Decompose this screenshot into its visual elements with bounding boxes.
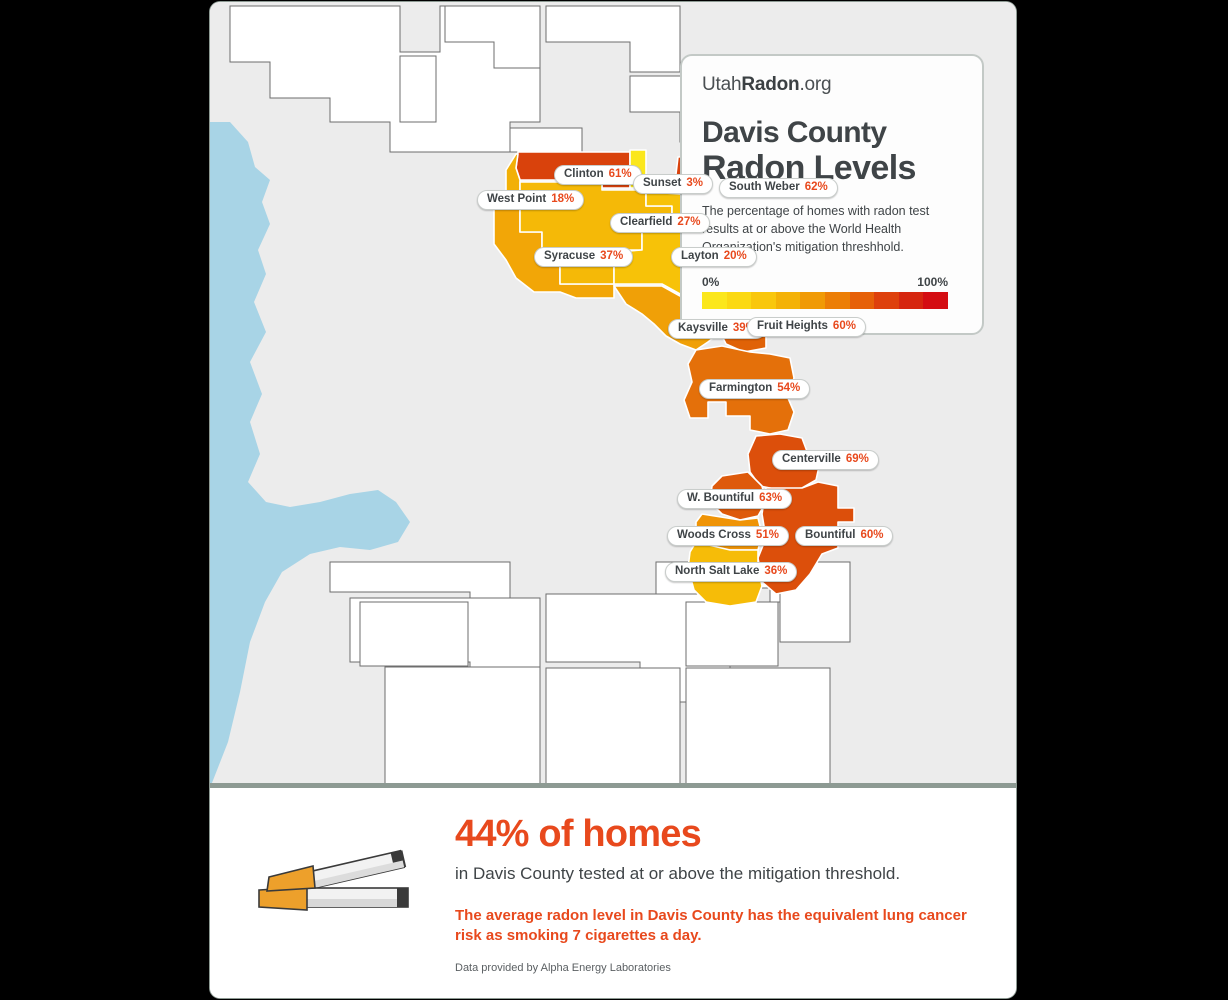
city-percent: 36% bbox=[764, 565, 787, 578]
scale-swatch-2 bbox=[751, 292, 776, 309]
scale-swatch-0 bbox=[702, 292, 727, 309]
scale-swatch-9 bbox=[923, 292, 948, 309]
city-label-west-point[interactable]: West Point18% bbox=[477, 190, 584, 210]
city-name: South Weber bbox=[729, 181, 800, 194]
scale-labels: 0% 100% bbox=[702, 275, 948, 289]
scale-swatch-1 bbox=[727, 292, 752, 309]
city-label-clearfield[interactable]: Clearfield27% bbox=[610, 213, 710, 233]
city-label-layton[interactable]: Layton20% bbox=[671, 247, 757, 267]
city-percent: 20% bbox=[724, 250, 747, 263]
risk-statement: The average radon level in Davis County … bbox=[455, 906, 995, 946]
city-percent: 18% bbox=[551, 193, 574, 206]
city-name: Clearfield bbox=[620, 216, 672, 229]
city-name: North Salt Lake bbox=[675, 565, 759, 578]
city-name: West Point bbox=[487, 193, 546, 206]
city-percent: 60% bbox=[860, 529, 883, 542]
logo-pre: Utah bbox=[702, 74, 741, 95]
city-name: Clinton bbox=[564, 168, 604, 181]
city-label-sunset[interactable]: Sunset3% bbox=[633, 174, 713, 194]
city-name: Woods Cross bbox=[677, 529, 751, 542]
city-percent: 60% bbox=[833, 320, 856, 333]
scale-gradient-bar bbox=[702, 292, 948, 309]
city-percent: 63% bbox=[759, 492, 782, 505]
city-label-syracuse[interactable]: Syracuse37% bbox=[534, 247, 633, 267]
city-label-fruit-heights[interactable]: Fruit Heights60% bbox=[747, 317, 866, 337]
city-name: Kaysville bbox=[678, 322, 728, 335]
city-label-bountiful[interactable]: Bountiful60% bbox=[795, 526, 893, 546]
city-percent: 51% bbox=[756, 529, 779, 542]
city-label-north-salt-lake[interactable]: North Salt Lake36% bbox=[665, 562, 797, 582]
scale-min-label: 0% bbox=[702, 275, 719, 289]
city-name: Fruit Heights bbox=[757, 320, 828, 333]
summary-panel: 44% of homes in Davis County tested at o… bbox=[210, 793, 1016, 998]
source-credit: Data provided by Alpha Energy Laboratori… bbox=[455, 962, 995, 974]
city-name: Farmington bbox=[709, 382, 772, 395]
infographic-card: UtahRadon.org Davis County Radon Levels … bbox=[210, 2, 1016, 998]
city-percent: 37% bbox=[600, 250, 623, 263]
city-name: Syracuse bbox=[544, 250, 595, 263]
city-label-w-bountiful[interactable]: W. Bountiful63% bbox=[677, 489, 792, 509]
color-scale: 0% 100% bbox=[702, 275, 948, 309]
logo-bold: Radon bbox=[741, 74, 799, 95]
city-label-farmington[interactable]: Farmington54% bbox=[699, 379, 810, 399]
scale-swatch-3 bbox=[776, 292, 801, 309]
infographic-canvas: UtahRadon.org Davis County Radon Levels … bbox=[0, 0, 1228, 1000]
city-percent: 61% bbox=[609, 168, 632, 181]
city-percent: 54% bbox=[777, 382, 800, 395]
city-percent: 3% bbox=[686, 177, 703, 190]
city-percent: 27% bbox=[677, 216, 700, 229]
site-logo[interactable]: UtahRadon.org bbox=[702, 74, 962, 96]
city-label-south-weber[interactable]: South Weber62% bbox=[719, 178, 838, 198]
city-label-centerville[interactable]: Centerville69% bbox=[772, 450, 879, 470]
summary-text-block: 44% of homes in Davis County tested at o… bbox=[455, 815, 995, 974]
cigarettes-icon bbox=[245, 833, 435, 933]
city-name: Centerville bbox=[782, 453, 841, 466]
city-label-clinton[interactable]: Clinton61% bbox=[554, 165, 642, 185]
city-name: Layton bbox=[681, 250, 719, 263]
scale-swatch-8 bbox=[899, 292, 924, 309]
city-percent: 62% bbox=[805, 181, 828, 194]
big-stat: 44% of homes bbox=[455, 815, 995, 855]
city-label-woods-cross[interactable]: Woods Cross51% bbox=[667, 526, 789, 546]
city-name: Sunset bbox=[643, 177, 681, 190]
logo-post: .org bbox=[799, 74, 831, 95]
title-line-1: Davis County bbox=[702, 118, 962, 149]
scale-swatch-6 bbox=[850, 292, 875, 309]
scale-swatch-5 bbox=[825, 292, 850, 309]
scale-swatch-4 bbox=[800, 292, 825, 309]
city-name: W. Bountiful bbox=[687, 492, 754, 505]
scale-max-label: 100% bbox=[917, 275, 948, 289]
city-name: Bountiful bbox=[805, 529, 855, 542]
sub-stat: in Davis County tested at or above the m… bbox=[455, 863, 995, 884]
city-percent: 69% bbox=[846, 453, 869, 466]
map-panel[interactable]: UtahRadon.org Davis County Radon Levels … bbox=[210, 2, 1016, 788]
scale-swatch-7 bbox=[874, 292, 899, 309]
